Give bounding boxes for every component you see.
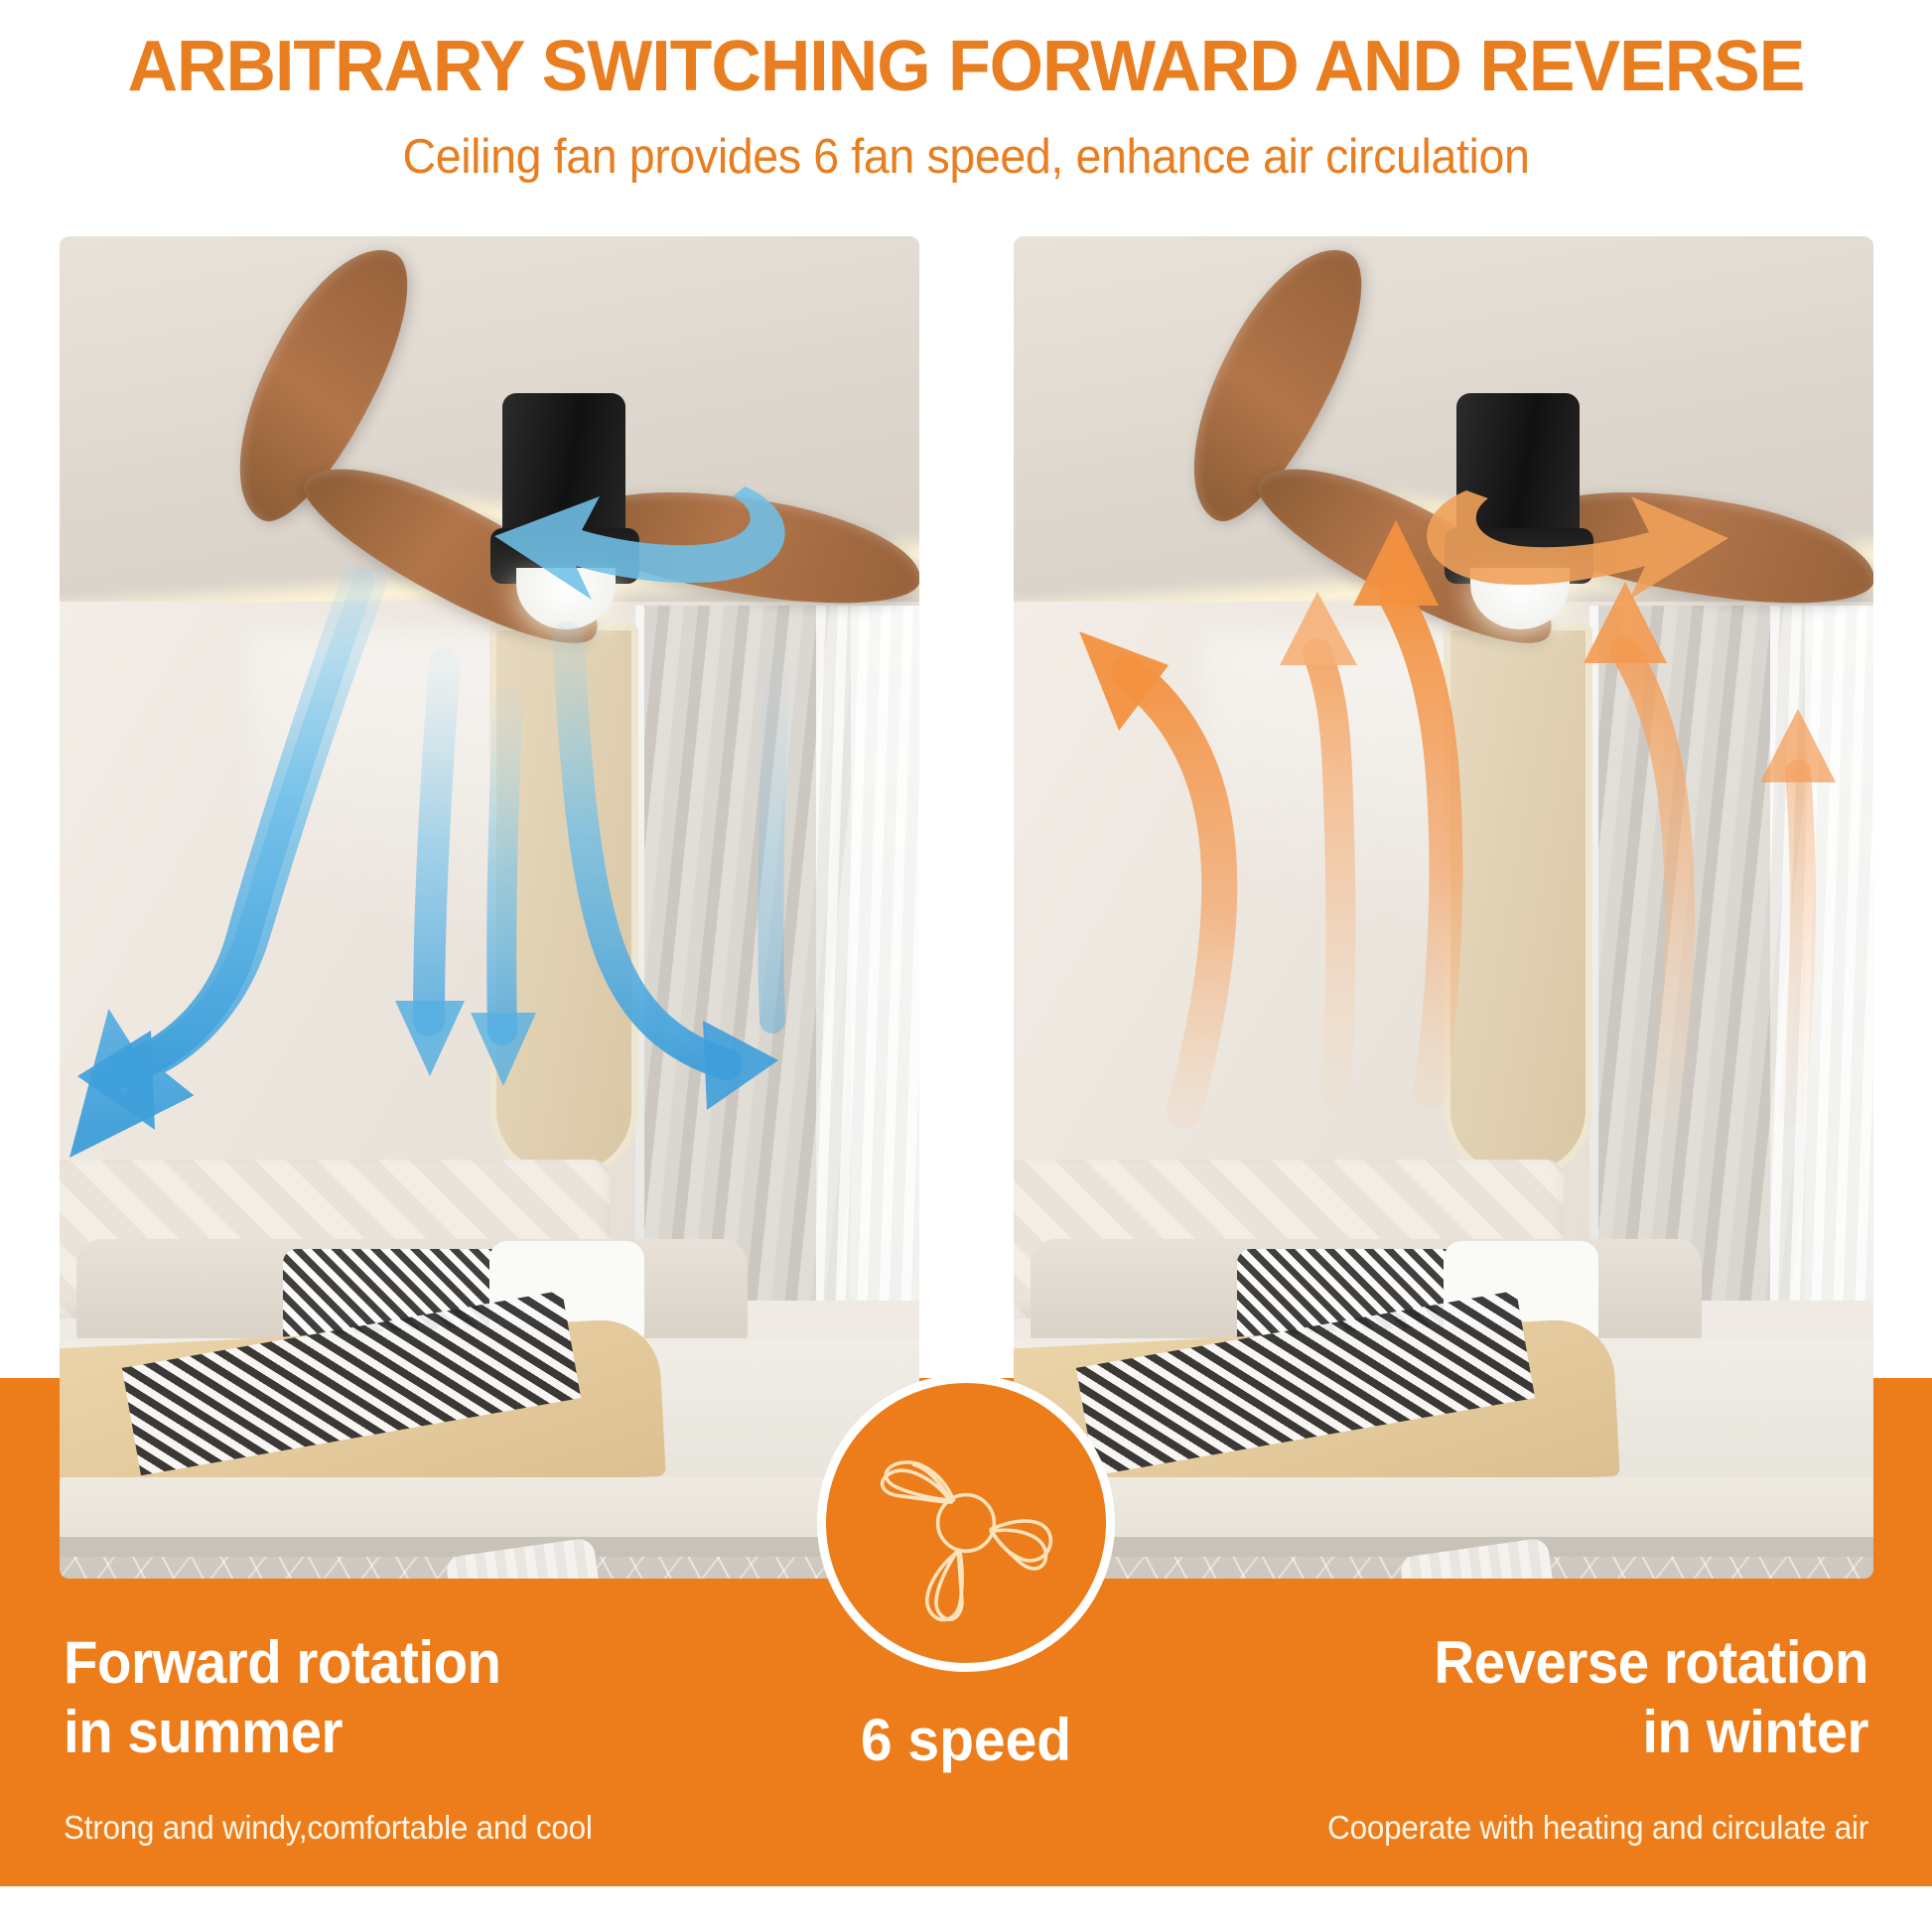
forward-heading-line2: in summer [64, 1698, 829, 1767]
speed-label: 6 speed [777, 1706, 1155, 1775]
fan-speed-badge [817, 1374, 1115, 1672]
ceiling-fan-forward [268, 332, 824, 649]
ceiling-fan-reverse [1222, 332, 1778, 649]
page-title: ARBITRARY SWITCHING FORWARD AND REVERSE [29, 24, 1903, 109]
header: ARBITRARY SWITCHING FORWARD AND REVERSE … [0, 0, 1932, 208]
photo-forward-rotation [60, 236, 919, 1579]
sheer-curtain [1770, 606, 1873, 1301]
rotation-arrow-forward-icon [417, 451, 834, 629]
page-subtitle: Ceiling fan provides 6 fan speed, enhanc… [49, 127, 1884, 187]
forward-subtext: Strong and windy,comfortable and cool [64, 1807, 837, 1849]
photo-reverse-rotation [1014, 236, 1873, 1579]
banner-left-block: Forward rotation in summer Strong and wi… [64, 1628, 878, 1849]
bedroom-scene-reverse [1014, 236, 1873, 1579]
sheer-curtain [816, 606, 919, 1301]
bedroom-scene-forward [60, 236, 919, 1579]
reverse-heading-line1: Reverse rotation [1103, 1628, 1868, 1698]
rotation-arrow-reverse-icon [1371, 451, 1788, 629]
forward-heading-line1: Forward rotation [64, 1628, 829, 1698]
fan-blades-icon [862, 1419, 1070, 1627]
reverse-subtext: Cooperate with heating and circulate air [1095, 1807, 1868, 1849]
door-panel [489, 623, 638, 1179]
banner-right-block: Reverse rotation in winter Cooperate wit… [1054, 1628, 1868, 1849]
reverse-heading-line2: in winter [1103, 1698, 1868, 1767]
door-panel [1444, 623, 1592, 1179]
